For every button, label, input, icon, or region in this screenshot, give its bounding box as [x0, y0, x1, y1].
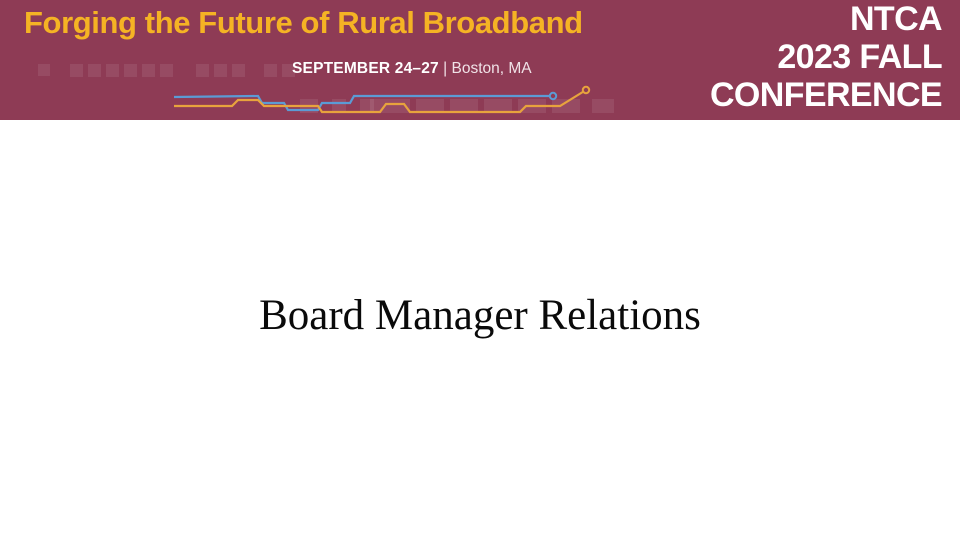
- brand-line-conference: CONFERENCE: [710, 76, 942, 114]
- conference-separator: |: [439, 60, 452, 77]
- brand-line-year: 2023 FALL: [710, 38, 942, 76]
- conference-brand: NTCA 2023 FALL CONFERENCE: [710, 0, 942, 114]
- presentation-slide: Forging the Future of Rural Broadband SE…: [0, 0, 960, 540]
- banner-dateline: SEPTEMBER 24–27 | Boston, MA: [292, 60, 532, 77]
- blue-path-line: [174, 96, 553, 110]
- gold-path-line: [174, 90, 586, 112]
- brand-line-ntca: NTCA: [710, 0, 942, 38]
- banner-headline: Forging the Future of Rural Broadband: [24, 6, 583, 40]
- conference-location: Boston, MA: [452, 60, 532, 77]
- slide-title: Board Manager Relations: [0, 292, 960, 340]
- conference-banner: Forging the Future of Rural Broadband SE…: [0, 0, 960, 120]
- conference-dates: SEPTEMBER 24–27: [292, 60, 439, 77]
- slide-content-area: [0, 370, 960, 540]
- blue-path-endpoint: [550, 93, 556, 99]
- gold-path-endpoint: [583, 87, 589, 93]
